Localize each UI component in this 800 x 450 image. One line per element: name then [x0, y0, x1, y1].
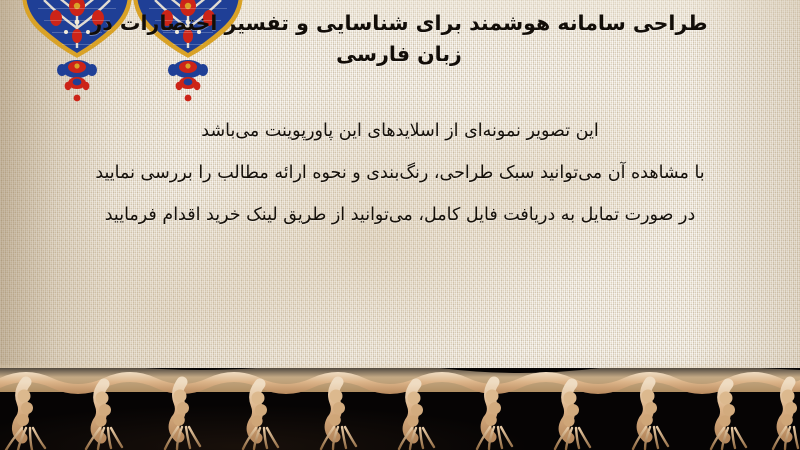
slide-body-line-3: در صورت تمایل به دریافت فایل کامل، می‌تو…	[8, 194, 792, 236]
tassel	[243, 384, 278, 449]
slide-title-line-2: زبان فارسی	[14, 39, 784, 70]
tassel	[321, 382, 356, 449]
tassel	[86, 384, 122, 449]
slide-body-line-2: با مشاهده آن می‌توانید سبک طراحی، رنگ‌بن…	[8, 152, 792, 194]
tassel	[399, 384, 434, 449]
tassel	[711, 384, 746, 449]
slide-title: طراحی سامانه هوشمند برای شناسایی و تفسیر…	[0, 8, 800, 70]
carpet-fringe	[0, 358, 800, 450]
slide-body-line-1: این تصویر نمونه‌ای از اسلایدهای این پاور…	[8, 110, 792, 152]
slide-title-line-1: طراحی سامانه هوشمند برای شناسایی و تفسیر…	[90, 11, 707, 35]
tassel	[555, 384, 590, 449]
tassel	[633, 382, 668, 449]
slide-canvas: طراحی سامانه هوشمند برای شناسایی و تفسیر…	[0, 0, 800, 450]
tassel	[6, 382, 45, 450]
slide-body: این تصویر نمونه‌ای از اسلایدهای این پاور…	[0, 110, 800, 236]
tassel	[773, 382, 798, 449]
fringe-tassels-icon	[0, 358, 800, 450]
